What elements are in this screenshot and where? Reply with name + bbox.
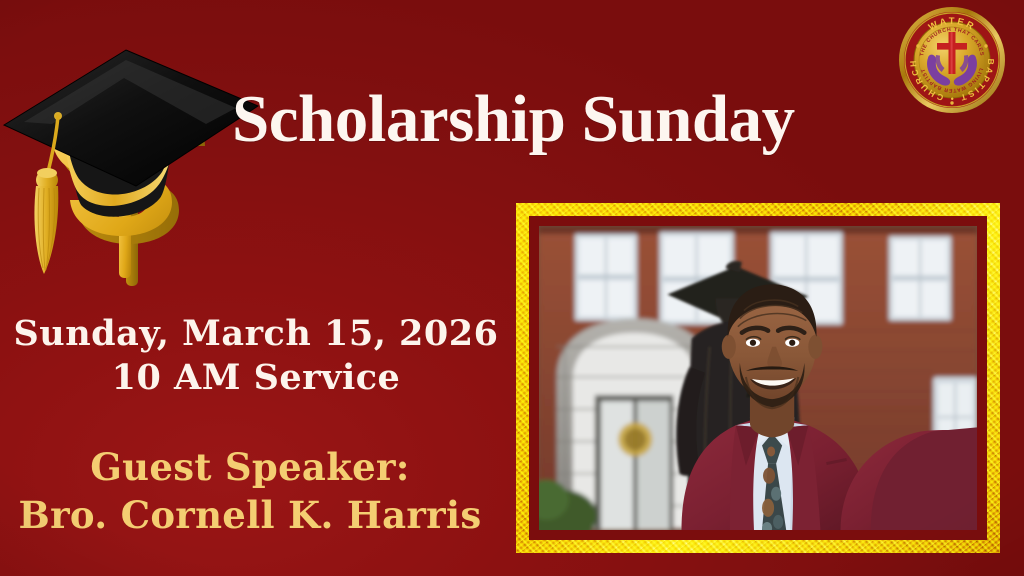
graduation-cap-dollar-graphic xyxy=(0,20,266,295)
event-date: Sunday, March 15, 2026 xyxy=(0,312,512,356)
photo-frame xyxy=(516,203,1000,553)
photo-mat xyxy=(529,216,987,540)
flyer-title: Scholarship Sunday xyxy=(232,86,795,153)
church-logo: WATER BAPTIST • CHURCH THE CHURCH THAT C… xyxy=(898,6,1006,114)
event-date-block: Sunday, March 15, 2026 10 AM Service xyxy=(0,312,512,400)
flyer-canvas: WATER BAPTIST • CHURCH THE CHURCH THAT C… xyxy=(0,0,1024,576)
guest-speaker-block: Guest Speaker: Bro. Cornell K. Harris xyxy=(0,443,500,539)
event-time: 10 AM Service xyxy=(0,356,512,400)
guest-speaker-name: Bro. Cornell K. Harris xyxy=(0,491,500,539)
guest-speaker-label: Guest Speaker: xyxy=(0,443,500,491)
guest-speaker-portrait xyxy=(539,226,977,530)
